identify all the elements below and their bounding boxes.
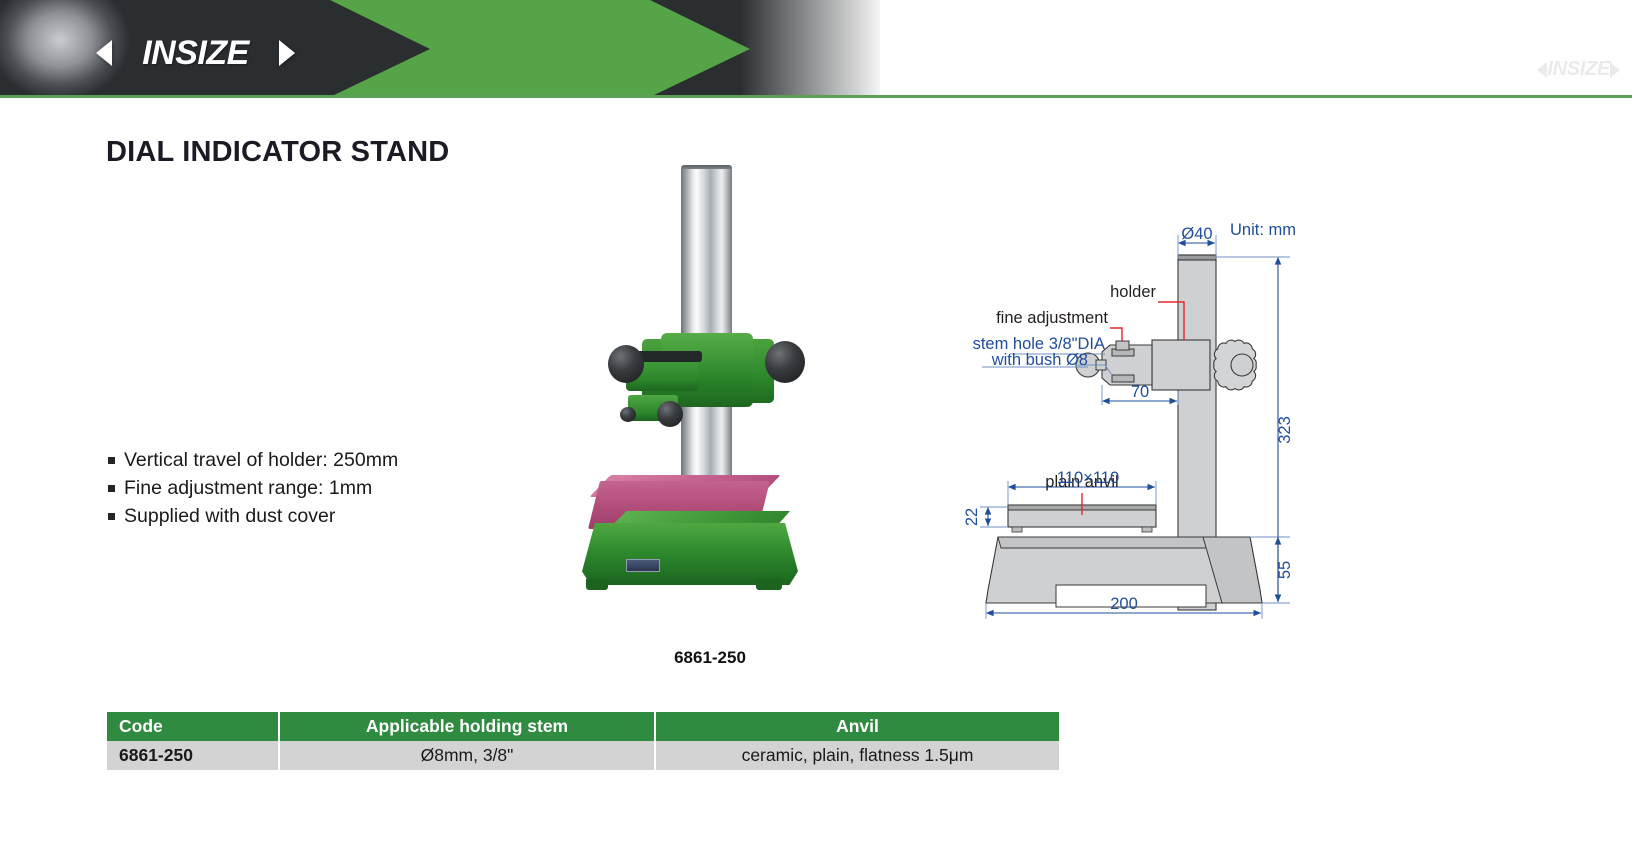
base-nameplate: [626, 559, 660, 572]
watermark-text: INSIZE: [1547, 58, 1610, 81]
feature-text: Fine adjustment range: 1mm: [124, 476, 372, 500]
feature-text: Supplied with dust cover: [124, 504, 335, 528]
cell-anvil: ceramic, plain, flatness 1.5μm: [655, 741, 1059, 770]
feature-text: Vertical travel of holder: 250mm: [124, 448, 398, 472]
watermark-left-arrow-icon: [1537, 62, 1547, 78]
column-header-stem: Applicable holding stem: [279, 712, 655, 741]
dim-base-height: 55: [1276, 561, 1294, 579]
insize-watermark: INSIZE: [1537, 58, 1620, 81]
feature-list: Vertical travel of holder: 250mm Fine ad…: [108, 448, 538, 532]
column-header-anvil: Anvil: [655, 712, 1059, 741]
stem-clamp-knob: [620, 407, 636, 422]
callout-fine-adjustment: fine adjustment: [996, 309, 1108, 327]
base-foot-left: [586, 579, 608, 590]
datasheet-page: INSIZE INSIZE DIAL INDICATOR STAND Verti…: [0, 0, 1632, 842]
feature-item: Supplied with dust cover: [108, 504, 538, 528]
product-photo: [560, 155, 860, 625]
product-caption: 6861-250: [560, 648, 860, 668]
insize-logo: INSIZE: [98, 32, 293, 74]
base-body: [582, 523, 798, 585]
bullet-square-icon: [108, 457, 115, 464]
unit-label: Unit: mm: [1230, 221, 1296, 239]
clamp-knob-right: [765, 341, 805, 383]
base-foot-right: [756, 579, 782, 590]
dim-total-height: 323: [1276, 416, 1294, 444]
feature-item: Fine adjustment range: 1mm: [108, 476, 538, 500]
dim-base-width: 200: [1110, 595, 1138, 613]
specification-table: Code Applicable holding stem Anvil 6861-…: [107, 712, 1059, 770]
logo-text: INSIZE: [142, 34, 249, 73]
cell-stem: Ø8mm, 3/8": [279, 741, 655, 770]
dim-holder-reach: 70: [1131, 383, 1149, 401]
header-divider: [0, 95, 1632, 98]
dim-anvil-size: 110×110: [1057, 469, 1119, 487]
callout-holder: holder: [1110, 283, 1156, 301]
table-header-row: Code Applicable holding stem Anvil: [107, 712, 1059, 741]
bullet-square-icon: [108, 513, 115, 520]
logo-left-arrow-icon: [96, 40, 112, 66]
bullet-square-icon: [108, 485, 115, 492]
logo-right-arrow-icon: [279, 40, 295, 66]
page-title: DIAL INDICATOR STAND: [106, 136, 449, 169]
column-header-code: Code: [107, 712, 279, 741]
callout-stem-hole-line2: with bush Ø8: [991, 351, 1088, 369]
dim-column-diameter: Ø40: [1181, 225, 1212, 243]
watermark-right-arrow-icon: [1610, 62, 1620, 78]
fine-adjustment-knob: [657, 401, 683, 427]
cell-code: 6861-250: [107, 741, 279, 770]
technical-drawing: Unit: mm Ø40 holder fine adjustment stem…: [960, 215, 1310, 625]
feature-item: Vertical travel of holder: 250mm: [108, 448, 538, 472]
table-row: 6861-250 Ø8mm, 3/8" ceramic, plain, flat…: [107, 741, 1059, 770]
header-photo-fade: [740, 0, 900, 97]
dim-anvil-height: 22: [963, 508, 981, 526]
page-header: INSIZE INSIZE: [0, 0, 1632, 97]
clamp-knob-left: [608, 345, 644, 383]
